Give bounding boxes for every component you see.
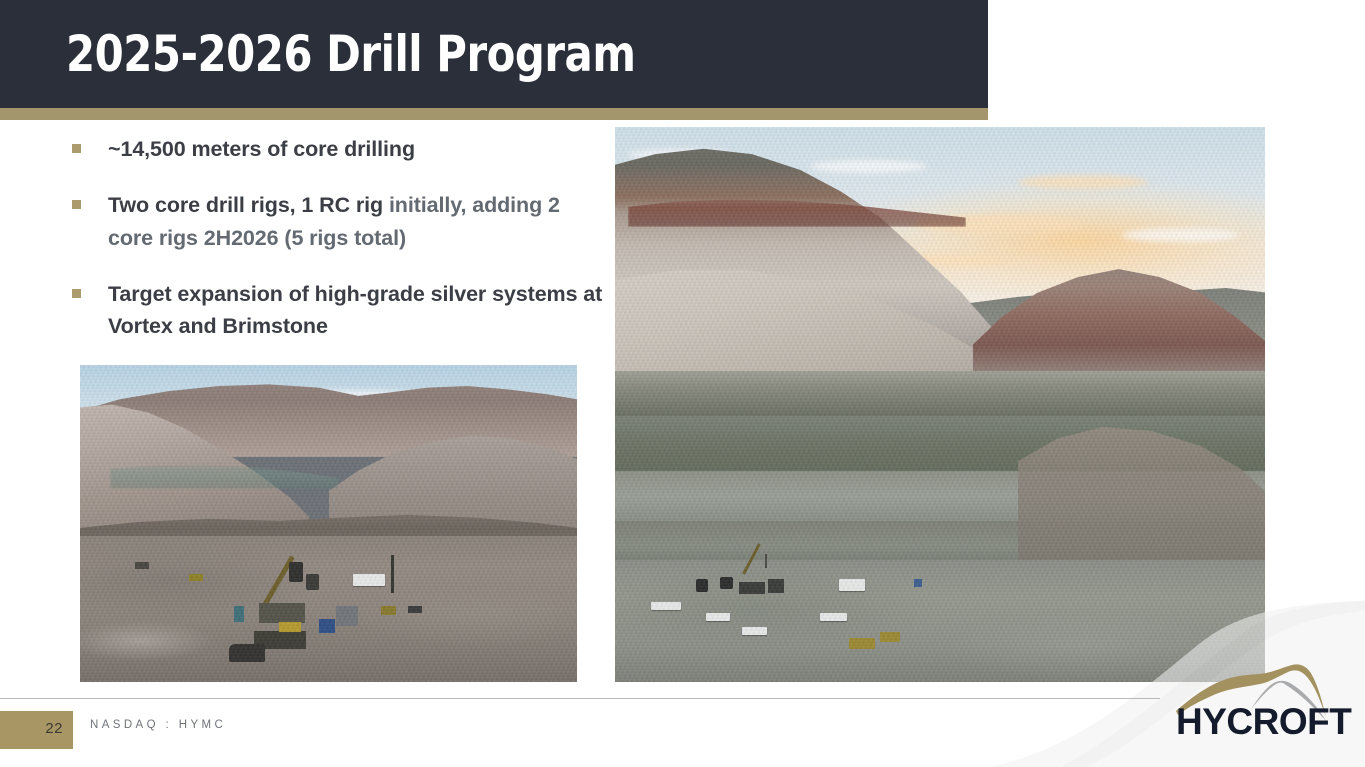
drill-site-pit-floor-photo xyxy=(80,365,577,682)
water-truck xyxy=(651,602,681,610)
cyclone-tank xyxy=(289,562,303,582)
stacked-pipe xyxy=(135,562,149,569)
hycroft-logo: HYCROFT xyxy=(1168,663,1358,748)
bullet-text: Two core drill rigs, 1 RC rig initially,… xyxy=(108,189,610,254)
title-gold-rule xyxy=(0,108,988,120)
water-truck xyxy=(353,574,385,586)
yellow-rig-panel xyxy=(279,622,301,632)
grey-container xyxy=(336,606,358,626)
page-number-badge: 22 xyxy=(0,711,73,749)
light-plant xyxy=(391,555,394,593)
list-item: Two core drill rigs, 1 RC rig initially,… xyxy=(70,189,610,254)
light-plant-pole xyxy=(765,554,767,568)
bullet-text: Target expansion of high-grade silver sy… xyxy=(108,278,610,343)
mud-tank xyxy=(306,574,319,590)
utility-vehicle xyxy=(408,606,422,613)
wheel-loader xyxy=(880,632,900,642)
drill-rig-body xyxy=(739,582,765,594)
small-equipment xyxy=(189,574,203,581)
portable-toilet xyxy=(234,606,244,622)
page-number: 22 xyxy=(45,720,63,737)
bullet-strong-text: Two core drill rigs, 1 RC rig xyxy=(108,193,389,217)
bullet-strong-text: ~14,500 meters of core drilling xyxy=(108,137,415,161)
bench-level-1 xyxy=(615,371,1265,421)
bullet-list: ~14,500 meters of core drilling Two core… xyxy=(70,133,610,366)
drill-rig-deck xyxy=(259,603,305,623)
site-trailer xyxy=(839,579,865,591)
stock-ticker-label: NASDAQ : HYMC xyxy=(90,719,226,731)
light-plant-base xyxy=(381,606,396,615)
footer-divider xyxy=(0,698,1160,699)
blue-tarp xyxy=(319,619,335,633)
storage-tank xyxy=(696,579,708,592)
blue-drum xyxy=(914,579,922,587)
list-item: Target expansion of high-grade silver sy… xyxy=(70,278,610,343)
list-item: ~14,500 meters of core drilling xyxy=(70,133,610,165)
open-pit-benches-photo xyxy=(615,127,1265,682)
square-bullet-icon xyxy=(72,200,81,209)
bullet-text: ~14,500 meters of core drilling xyxy=(108,133,610,165)
storage-tank xyxy=(720,577,733,589)
bullet-strong-text: Target expansion of high-grade silver sy… xyxy=(108,282,602,338)
page-title: 2025-2026 Drill Program xyxy=(66,28,635,81)
presentation-slide: 2025-2026 Drill Program ~14,500 meters o… xyxy=(0,0,1365,767)
pickup-truck xyxy=(706,613,730,621)
pickup-truck xyxy=(742,627,767,635)
logo-wordmark: HYCROFT xyxy=(1176,703,1351,740)
pit-floor-shading xyxy=(80,536,577,682)
square-bullet-icon xyxy=(72,144,81,153)
pickup-truck xyxy=(820,613,847,621)
square-bullet-icon xyxy=(72,289,81,298)
wheel-loader xyxy=(849,638,875,649)
site-container xyxy=(768,579,784,593)
covered-truck xyxy=(229,644,265,662)
